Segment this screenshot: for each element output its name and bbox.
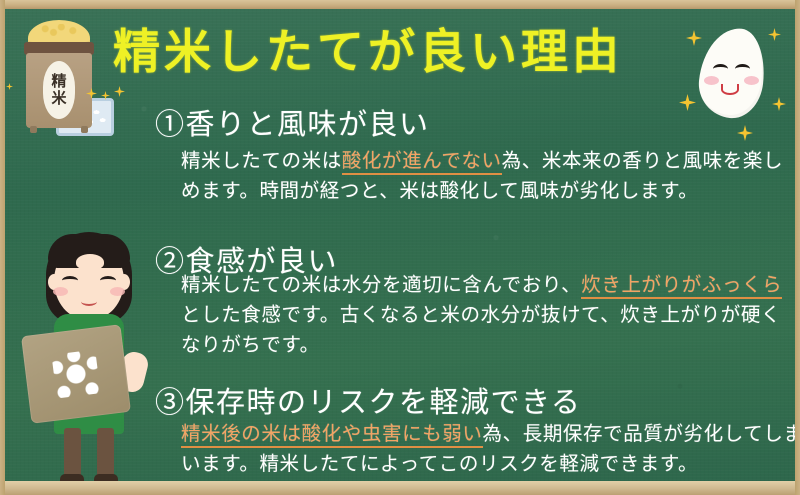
eye-left <box>62 276 78 285</box>
section-body-1: 精米したての米は酸化が進んでない為、米本来の香りと風味を楽しめます。時間が経つと… <box>181 146 796 206</box>
rice-bag-foot-right <box>81 126 88 133</box>
highlighted-text: 炊き上がりがふっくら <box>581 274 782 299</box>
board-frame-left <box>0 0 5 495</box>
mouth <box>81 297 97 306</box>
page-title: 精米したてが良い理由 <box>113 26 623 79</box>
body-text: 精米したての米は <box>181 150 342 172</box>
mascot-eye-left <box>713 64 728 74</box>
blush-right <box>110 287 125 296</box>
rice-bag-illustration: 精米 <box>14 20 104 138</box>
body-text: 精米したての米は水分を適切に含んでおり、 <box>181 274 581 296</box>
hair-fringe <box>48 234 130 268</box>
sparkle-star-bag-3 <box>114 86 125 97</box>
rice-bag-label: 精米 <box>43 61 75 119</box>
sparkle-star-mascot-3 <box>679 94 696 111</box>
section-heading-1: ①香りと風味が良い <box>155 101 430 143</box>
section-body-3: 精米後の米は酸化や虫害にも弱い為、長期保存で品質が劣化してしまいます。精米したて… <box>181 419 800 479</box>
smiling-rice-grain-mascot <box>700 28 764 118</box>
mascot-blush-right <box>744 76 759 85</box>
body-text: とした食感です。古くなると米の水分が抜けて、炊き上がりが硬くなりがちです。 <box>181 304 781 356</box>
rice-bag-label-char: 米 <box>51 90 66 107</box>
sparkle-star-mascot-5 <box>737 125 753 141</box>
sparkle-star-mascot-4 <box>772 97 786 111</box>
leg-left <box>64 428 81 478</box>
mascot-blush-left <box>704 76 719 85</box>
mascot-body <box>695 25 768 121</box>
section-body-2: 精米したての米は水分を適切に含んでおり、炊き上がりがふっくらとした食感です。古く… <box>181 270 796 360</box>
sparkle-star-mascot-2 <box>768 28 781 41</box>
highlighted-text: 精米後の米は酸化や虫害にも弱い <box>181 423 483 448</box>
rice-sack-carried <box>21 324 131 424</box>
board-frame-bottom <box>0 481 800 495</box>
rice-bag-foot-left <box>30 126 37 133</box>
board-frame-right <box>795 0 800 495</box>
board-frame-top <box>0 0 800 9</box>
eye-right <box>100 276 116 285</box>
sparkle-star-bag-4 <box>6 83 13 90</box>
leg-right <box>97 428 114 478</box>
chalkboard-poster: 精米 <box>0 0 800 495</box>
blush-left <box>53 287 68 296</box>
rice-bag-body: 精米 <box>26 53 92 128</box>
rice-bag-label-char: 精 <box>51 73 66 90</box>
mascot-eye-right <box>735 64 750 74</box>
woman-holding-rice-sack-illustration <box>24 232 154 490</box>
section-heading-3: ③保存時のリスクを軽減できる <box>155 379 581 421</box>
highlighted-text: 酸化が進んでない <box>342 150 502 175</box>
mascot-mouth <box>721 84 739 95</box>
